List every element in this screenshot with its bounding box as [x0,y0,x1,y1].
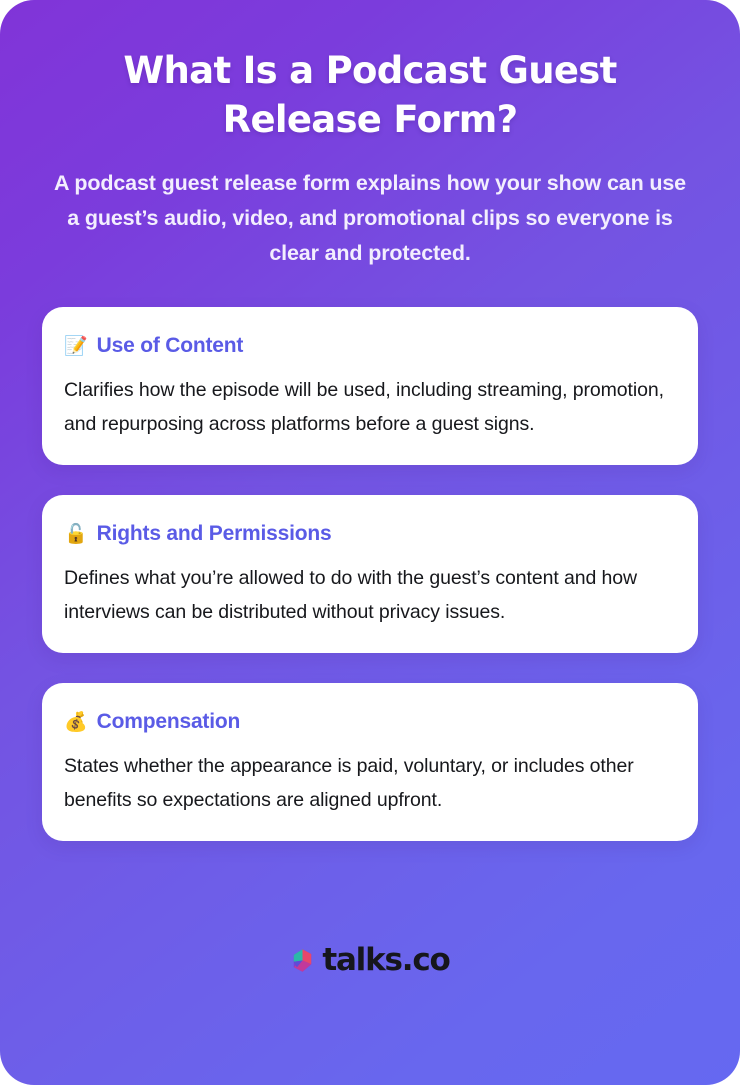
brand-name: talks.co [322,945,449,976]
poster-canvas: What Is a Podcast Guest Release Form? A … [0,0,740,1085]
list-item: 💰 Compensation States whether the appear… [42,683,698,841]
list-item: 🔓 Rights and Permissions Defines what yo… [42,495,698,653]
card-body: States whether the appearance is paid, v… [64,749,676,817]
card-header: 📝 Use of Content [64,333,676,359]
open-lock-icon: 🔓 [64,525,88,544]
card-header: 🔓 Rights and Permissions [64,521,676,547]
card-title: Rights and Permissions [97,521,332,547]
brand-logo: talks.co [290,945,449,976]
poster-footer: talks.co [0,841,740,1085]
poster-subtitle: A podcast guest release form explains ho… [47,166,693,271]
money-bag-icon: 💰 [64,713,88,732]
card-body: Defines what you’re allowed to do with t… [64,561,676,629]
poster-header: What Is a Podcast Guest Release Form? A … [0,0,740,271]
card-title: Compensation [97,709,240,735]
list-item: 📝 Use of Content Clarifies how the episo… [42,307,698,465]
card-title: Use of Content [97,333,244,359]
card-body: Clarifies how the episode will be used, … [64,373,676,441]
card-list: 📝 Use of Content Clarifies how the episo… [0,271,740,841]
memo-icon: 📝 [64,337,88,356]
talks-logo-mark-icon [290,948,315,973]
card-header: 💰 Compensation [64,709,676,735]
page-title: What Is a Podcast Guest Release Form? [46,46,694,144]
